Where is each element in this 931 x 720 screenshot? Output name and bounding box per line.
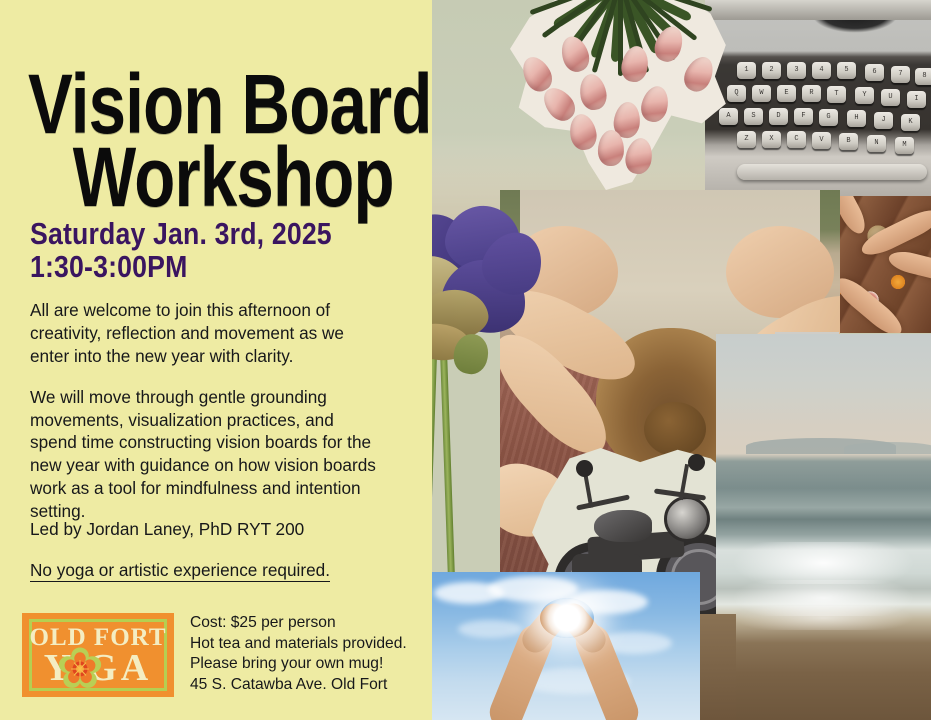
poster: 1 2 3 4 5 6 7 8 Q W E R T Y U I A S D F (0, 0, 931, 720)
cost-details: Cost: $25 per person Hot tea and materia… (190, 613, 430, 675)
typewriter-keys: 1 2 3 4 5 6 7 8 Q W E R T Y U I A S D F (719, 62, 931, 154)
beach-sand-strip (700, 614, 736, 720)
vintage-typewriter-photo: 1 2 3 4 5 6 7 8 Q W E R T Y U I A S D F (705, 0, 931, 196)
sun-glow-icon (540, 598, 594, 638)
heart-hands-sky-photo (428, 572, 700, 720)
page-title: Vision BoardWorkshop (28, 68, 476, 214)
old-fort-yoga-logo[interactable]: OLD FORT Y GA (22, 613, 174, 697)
experience-note: No yoga or artistic experience required. (30, 560, 400, 581)
event-datetime: Saturday Jan. 3rd, 2025 1:30-3:00PM (30, 218, 332, 284)
distant-hills (844, 442, 931, 454)
description-paragraph-1: All are welcome to join this afternoon o… (30, 299, 382, 368)
beach-shoreline-photo (716, 334, 931, 720)
typewriter-space-bar (737, 164, 927, 180)
venue-address: 45 S. Catawba Ave. Old Fort (190, 676, 440, 694)
experience-note-text: No yoga or artistic experience required. (30, 560, 330, 582)
title-line-2: Workshop (28, 141, 476, 214)
instructor-credit: Led by Jordan Laney, PhD RYT 200 (30, 519, 390, 540)
hibiscus-flower-icon (58, 647, 102, 691)
typewriter-carriage (705, 0, 931, 20)
event-description: All are welcome to join this afternoon o… (30, 299, 382, 523)
description-paragraph-2: We will move through gentle grounding mo… (30, 386, 382, 523)
pink-tulips-cutout (510, 0, 728, 194)
